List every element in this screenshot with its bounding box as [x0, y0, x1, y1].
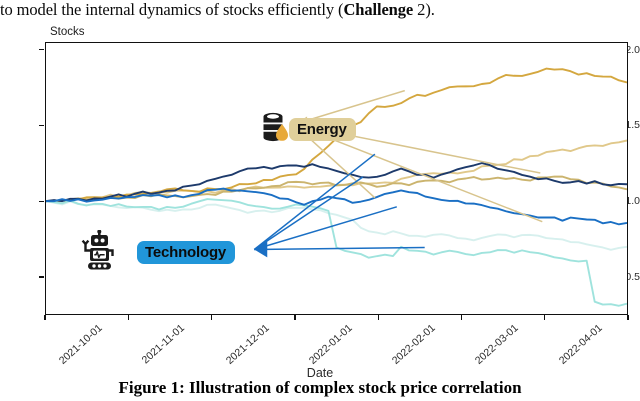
paper-text-bold: Challenge	[343, 0, 413, 19]
annotation-badge-energy[interactable]: Energy	[289, 118, 356, 141]
chart-lines	[46, 43, 627, 314]
x-axis-label-3: 2022-01-01	[307, 322, 355, 367]
x-axis-label-5: 2022-03-01	[473, 322, 521, 367]
paper-text-after: 2).	[413, 0, 435, 19]
x-axis-label-2: 2021-12-01	[223, 322, 271, 367]
x-axis-tick-5	[461, 315, 462, 320]
robot-icon	[77, 230, 121, 274]
x-axis-label-6: 2022-04-01	[557, 322, 605, 367]
leader-tech-3	[254, 207, 397, 250]
x-axis-tick-1	[128, 315, 129, 320]
x-axis-tick-7	[627, 315, 628, 320]
x-axis-label-4: 2022-02-01	[390, 322, 438, 367]
x-axis-tick-4	[378, 315, 379, 320]
annotation-label-technology: Technology	[145, 244, 226, 261]
annotation-badge-technology[interactable]: Technology	[137, 241, 235, 264]
oil-barrel-icon	[258, 110, 292, 144]
figure-caption: Figure 1: Illustration of complex stock …	[0, 378, 640, 398]
x-axis-tick-2	[211, 315, 212, 320]
x-axis-tick-3	[294, 315, 295, 320]
legend-title: Stocks	[50, 26, 308, 38]
paper-body-text: to model the internal dynamics of stocks…	[0, 0, 640, 20]
x-axis-label-1: 2021-11-01	[140, 322, 187, 366]
x-axis-tick-6	[544, 315, 545, 320]
figure-stock-correlation: Stocks AAPL META MPC OXY GOOG	[0, 22, 640, 374]
x-axis-tick-0	[44, 315, 45, 320]
x-axis-label-0: 2021-10-01	[57, 322, 105, 367]
paper-text-before: to model the internal dynamics of stocks…	[0, 0, 343, 19]
y-axis-tick-1	[39, 201, 44, 202]
y-axis-tick-3	[39, 49, 44, 50]
y-axis-tick-2	[39, 125, 44, 126]
y-axis-tick-0	[39, 276, 44, 277]
plot-area	[45, 42, 628, 315]
annotation-label-energy: Energy	[297, 121, 347, 138]
